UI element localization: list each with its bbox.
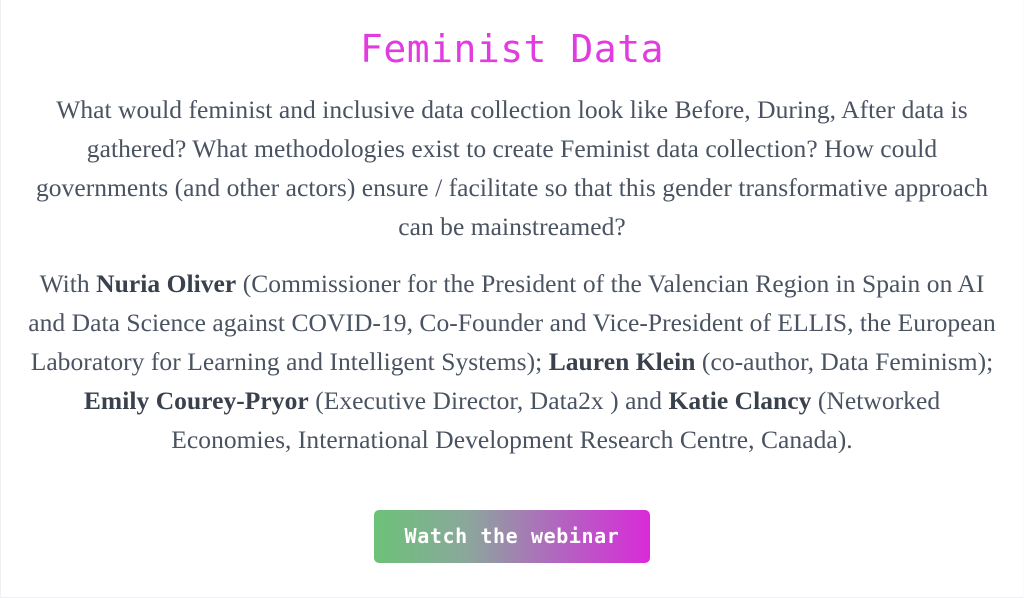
speaker-affiliation-lauren-klein: (co-author, Data Feminism); <box>695 347 993 376</box>
webinar-card: Feminist Data What would feminist and in… <box>0 0 1024 598</box>
speaker-name-lauren-klein: Lauren Klein <box>549 347 696 376</box>
speaker-name-emily-courey-pryor: Emily Courey-Pryor <box>84 386 309 415</box>
speakers-lead-in: With <box>40 269 97 298</box>
watch-the-webinar-button[interactable]: Watch the webinar <box>374 510 650 563</box>
speakers-paragraph: With Nuria Oliver (Commissioner for the … <box>28 264 996 459</box>
description-paragraph: What would feminist and inclusive data c… <box>31 90 993 246</box>
speaker-affiliation-emily-courey-pryor: (Executive Director, Data2x ) and <box>309 386 669 415</box>
cta-container: Watch the webinar <box>25 510 999 563</box>
speaker-name-nuria-oliver: Nuria Oliver <box>96 269 236 298</box>
page-title: Feminist Data <box>360 28 664 72</box>
speaker-name-katie-clancy: Katie Clancy <box>668 386 811 415</box>
